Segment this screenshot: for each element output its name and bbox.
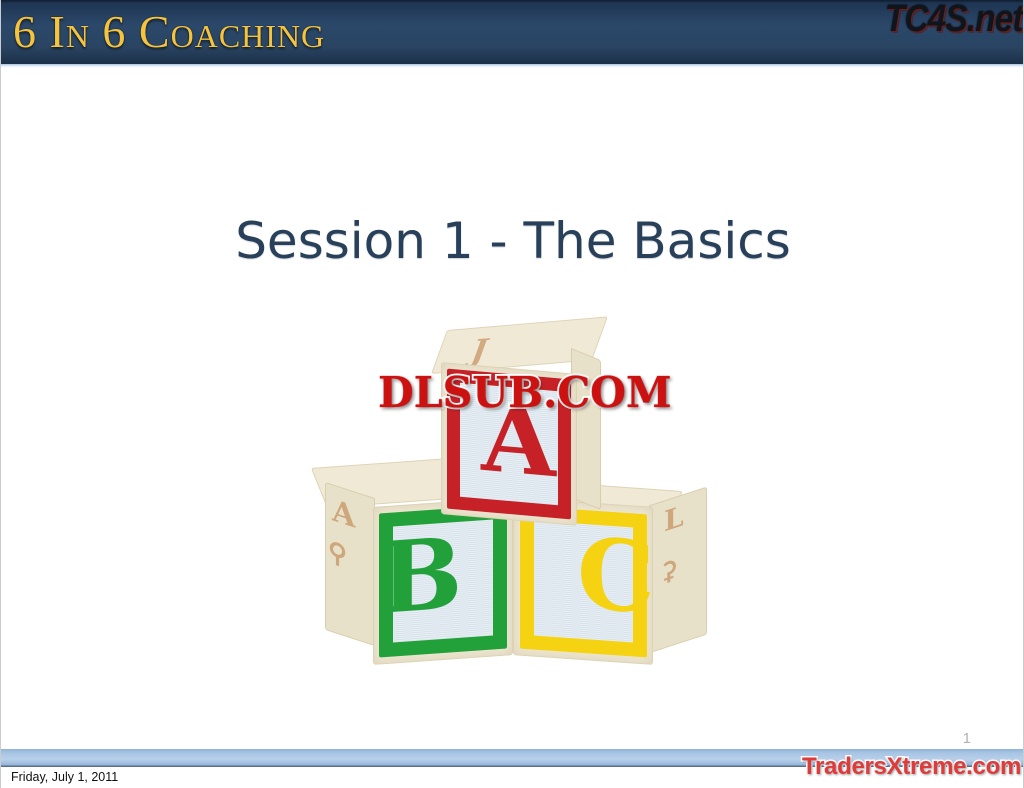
page-number: 1: [963, 730, 971, 747]
tc4s-brand-logo: TC4S.net: [885, 0, 1023, 42]
block-a-red: J A: [431, 330, 606, 530]
tradersxtreme-logo: TradersXtreme.com: [802, 753, 1021, 781]
presentation-slide: 6 In 6 Coaching TC4S.net Session 1 - The…: [0, 0, 1024, 788]
dlsub-watermark: DLSUB.COM: [378, 368, 672, 417]
header-underline-divider: [1, 64, 1024, 68]
block-b-letter: B: [321, 521, 521, 633]
header-title: 6 In 6 Coaching: [13, 4, 325, 60]
block-c-letter: C: [511, 521, 721, 634]
header-banner: 6 In 6 Coaching TC4S.net: [1, 0, 1024, 64]
footer-date: Friday, July 1, 2011: [11, 770, 118, 784]
block-b-engraving-letter: A: [332, 493, 355, 536]
slide-title: Session 1 - The Basics: [1, 212, 1024, 270]
